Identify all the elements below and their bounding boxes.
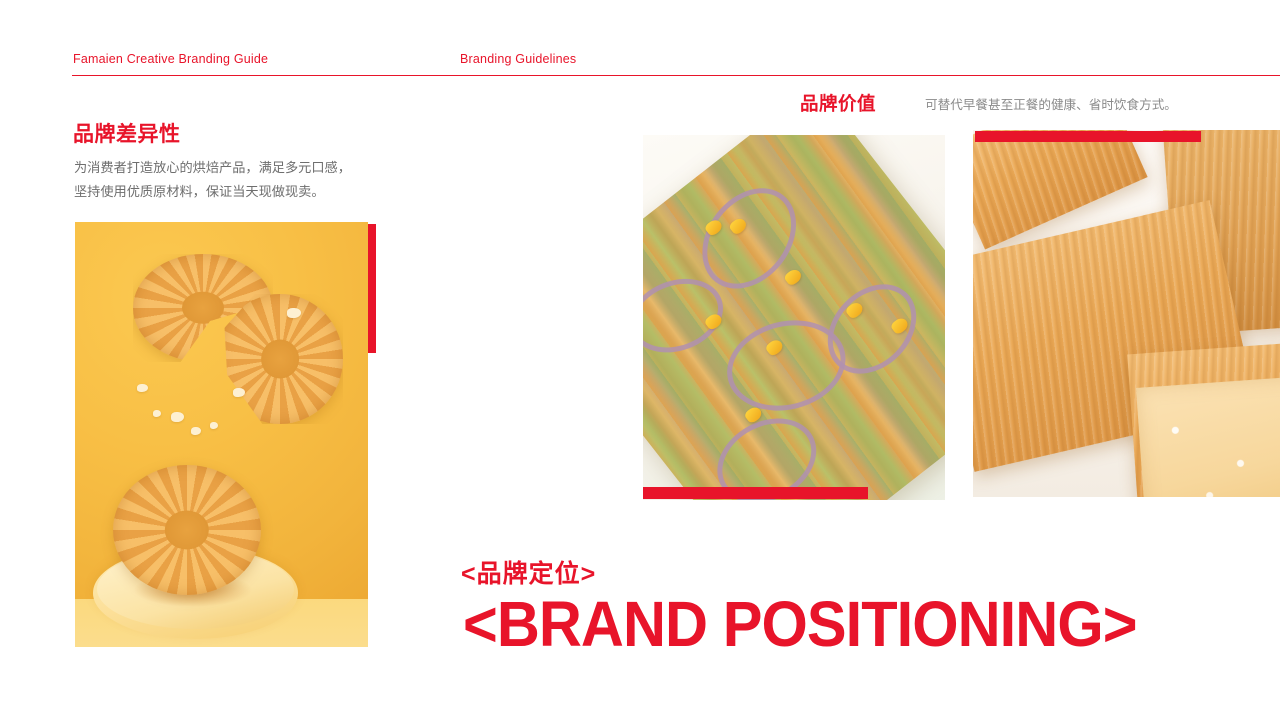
brand-value-description: 可替代早餐甚至正餐的健康、省时饮食方式。 bbox=[925, 94, 1177, 113]
toast-photo bbox=[973, 130, 1280, 497]
positioning-title-english: <BRAND POSITIONING> bbox=[463, 588, 1137, 660]
header-brand-title: Famaien Creative Branding Guide bbox=[73, 52, 268, 66]
header-section-title: Branding Guidelines bbox=[460, 52, 576, 66]
differentiation-body-line-2: 坚持使用优质原材料，保证当天现做现卖。 bbox=[74, 180, 394, 204]
corn-kernel bbox=[783, 267, 804, 287]
croissant-photo bbox=[75, 222, 368, 647]
crumb bbox=[137, 384, 148, 392]
onion-ring bbox=[703, 402, 831, 500]
croissant-piece-right bbox=[217, 294, 343, 424]
crumb bbox=[171, 412, 184, 422]
differentiation-title: 品牌差异性 bbox=[73, 118, 181, 148]
crumb bbox=[153, 410, 161, 417]
toast-crumb-interior bbox=[1136, 376, 1280, 497]
branding-guide-slide: Famaien Creative Branding Guide Branding… bbox=[0, 0, 1280, 720]
croissant-ring-bottom bbox=[113, 465, 261, 595]
savory-bread-photo bbox=[643, 135, 945, 500]
crumb bbox=[191, 427, 201, 435]
header-divider bbox=[72, 75, 1280, 76]
positioning-title-chinese: <品牌定位> bbox=[461, 554, 596, 590]
crumb bbox=[210, 422, 218, 429]
differentiation-body: 为消费者打造放心的烘焙产品，满足多元口感， 坚持使用优质原材料，保证当天现做现卖… bbox=[74, 156, 394, 204]
bread-loaf bbox=[643, 135, 945, 500]
accent-bar-vertical bbox=[368, 224, 376, 353]
accent-bar-right-top bbox=[975, 131, 1201, 142]
accent-bar-middle-bottom bbox=[643, 487, 868, 499]
brand-value-title: 品牌价值 bbox=[800, 90, 876, 116]
differentiation-body-line-1: 为消费者打造放心的烘焙产品，满足多元口感， bbox=[74, 156, 394, 180]
